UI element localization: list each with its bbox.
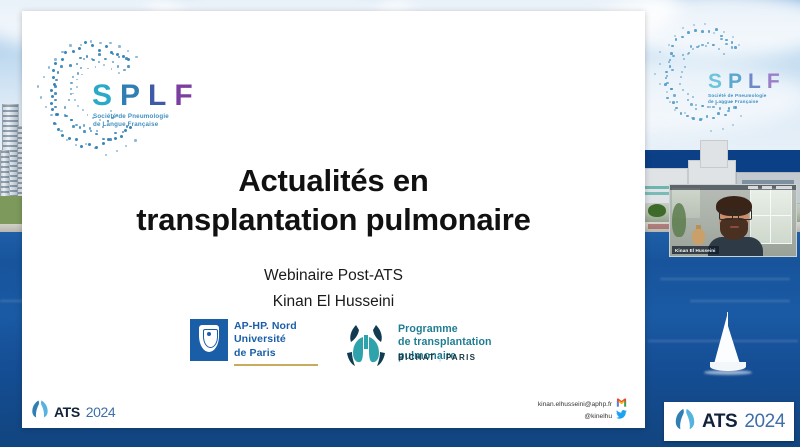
splf-ring-dot: [96, 130, 98, 132]
splf-ring-dot: [87, 68, 89, 70]
programme-logo-location: BICHAT | PARIS: [398, 353, 476, 362]
video-participant-name: Kinan El Husseini: [672, 246, 719, 254]
splf-ring-dot: [708, 30, 711, 33]
slide-title: Actualités en transplantation pulmonaire: [22, 161, 645, 239]
splf-ring-dot: [666, 75, 668, 77]
splf-ring-dot: [684, 112, 686, 114]
splf-ring-dot: [80, 145, 83, 148]
splf-ring-dot: [50, 89, 53, 92]
splf-ring-dot: [125, 57, 128, 60]
splf-ring-dot: [704, 23, 706, 25]
splf-ring-dot: [52, 69, 55, 72]
splf-ring-dot: [687, 31, 690, 34]
waterfront-building: [700, 140, 728, 168]
slide-canvas: SPLF Société de Pneumologie de Langue Fr…: [22, 11, 645, 428]
splf-ring-dot: [666, 91, 668, 93]
partner-logos: AP-HP. Nord Université de Paris: [190, 315, 550, 377]
splf-ring-dot: [680, 76, 682, 78]
participant-beard: [720, 218, 748, 240]
splf-ring-dot: [82, 109, 84, 111]
splf-ring-dot: [659, 83, 661, 85]
ats-logo-badge: ATS 2024: [664, 402, 794, 441]
splf-ring-dot: [70, 82, 72, 84]
splf-ring-dot: [682, 27, 684, 29]
splf-ring-dot: [81, 74, 83, 76]
programme-region: PARIS: [446, 353, 476, 362]
splf-ring-dot: [98, 49, 101, 52]
splf-ring-dot: [105, 154, 107, 156]
splf-ring-dot: [64, 114, 66, 116]
splf-ring-dot: [79, 126, 82, 129]
splf-ring-dot: [694, 29, 697, 32]
splf-ring-dot: [709, 106, 711, 108]
glasses-icon: [719, 209, 750, 218]
splf-ring-dot: [683, 58, 685, 60]
splf-ring-dot: [76, 79, 78, 81]
splf-ring-dot: [105, 58, 107, 60]
splf-ring-dot: [738, 44, 740, 46]
slide-subtitle: Webinaire Post-ATS Kinan El Husseini: [22, 263, 645, 315]
splf-ring-dot: [695, 108, 697, 110]
water-ripple: [690, 300, 790, 302]
splf-ring-dot: [669, 101, 671, 103]
splf-ring-dot: [692, 96, 694, 98]
splf-ring-dot: [80, 44, 82, 46]
splf-ring-dot: [731, 41, 734, 44]
ats-year-badge: 2024: [744, 411, 785, 433]
aphp-line2: Université: [234, 333, 297, 346]
splf-ring-dot: [723, 31, 725, 33]
twitter-bird-icon[interactable]: [616, 410, 627, 424]
video-thumbnail[interactable]: Kinan El Husseini: [669, 184, 797, 257]
splf-ring-dot: [674, 109, 676, 111]
splf-ring-dot: [80, 67, 82, 69]
splf-ring-dot: [705, 45, 707, 47]
splf-ring-dot: [98, 53, 101, 56]
splf-ring-dot: [122, 131, 125, 134]
splf-ring-dot: [680, 112, 683, 115]
splf-ring-dot: [672, 55, 674, 57]
aphp-shield-icon: [190, 319, 228, 361]
splf-ring-dot: [95, 66, 97, 68]
splf-ring-dot: [674, 35, 676, 37]
splf-ring-dot: [85, 143, 87, 145]
splf-ring-dot: [86, 55, 89, 58]
splf-ring-dot: [55, 123, 57, 125]
splf-ring-dot: [723, 53, 725, 55]
splf-ring-dot: [110, 110, 112, 112]
splf-ring-dot: [95, 133, 98, 136]
splf-ring-dot: [681, 36, 684, 39]
splf-ring-dot: [105, 45, 108, 48]
splf-ring-dot: [112, 61, 114, 63]
splf-ring-dot: [57, 71, 60, 74]
splf-ring-dot: [701, 118, 703, 120]
splf-ring-dot: [671, 45, 674, 48]
splf-ring-dot: [722, 102, 724, 104]
splf-ring-dot: [51, 108, 54, 111]
splf-ring-dot: [687, 93, 689, 95]
splf-ring-dot: [72, 93, 74, 95]
splf-ring-dot: [684, 66, 686, 68]
splf-logo-letters: SPLF: [92, 81, 201, 111]
splf-ring-dot: [707, 42, 709, 44]
splf-ring-dot: [75, 144, 77, 146]
contact-block: kinan.elhusseini@aphp.fr @kinelhu: [457, 399, 627, 422]
splf-ring-dot: [66, 139, 68, 141]
splf-ring-dot: [698, 45, 700, 47]
splf-ring-dot: [673, 94, 675, 96]
splf-ring-dot: [68, 99, 70, 101]
splf-ring-dot: [60, 65, 63, 68]
splf-ring-dot: [702, 105, 704, 107]
splf-ring-dot: [112, 53, 115, 56]
splf-ring-dot: [102, 138, 105, 141]
splf-ring-dot: [64, 51, 67, 54]
splf-ring-dot: [72, 76, 74, 78]
splf-ring-dot: [94, 147, 96, 149]
contact-twitter-line: @kinelhu: [457, 411, 627, 423]
splf-ring-dot: [720, 38, 722, 40]
programme-city: BICHAT: [398, 353, 435, 362]
splf-ring-dot: [687, 53, 689, 55]
splf-ring-dot: [731, 46, 733, 48]
splf-ring-dot: [127, 65, 130, 68]
splf-ring-dot: [666, 97, 669, 100]
splf-ring-dot: [668, 61, 670, 63]
aphp-line3: de Paris: [234, 347, 297, 360]
splf-ring-dot: [690, 103, 692, 105]
splf-ring-dot: [701, 44, 703, 46]
splf-ring-dot: [712, 106, 714, 108]
splf-ring-dot: [134, 139, 136, 141]
splf-ring-dot: [725, 39, 728, 42]
splf-ring-dot: [122, 55, 125, 58]
splf-logo: SPLF Société de Pneumologie de Langue Fr…: [32, 29, 222, 159]
splf-ring-dot: [61, 134, 64, 137]
splf-ring-dot: [54, 92, 57, 95]
boat-wake: [704, 370, 752, 375]
splf-logo-sub1: Société de Pneumologie: [93, 113, 169, 121]
splf-ring-dot: [54, 85, 57, 88]
splf-ring-dot: [720, 35, 723, 38]
splf-ring-dot: [72, 50, 75, 53]
splf-ring-dot: [107, 120, 109, 122]
splf-ring-dot: [717, 112, 720, 115]
water-ripple: [0, 300, 24, 302]
splf-ring-dot: [666, 82, 668, 84]
splf-ring-dot: [79, 57, 82, 60]
splf-ring-dot: [135, 56, 137, 58]
background-splf-watermark: SPLF Société de Pneumologie de Langue Fr…: [650, 18, 800, 133]
ats-word-badge: ATS: [702, 411, 737, 433]
video-vase: [692, 229, 705, 245]
splf-ring-dot: [733, 106, 735, 108]
programme-line1: Programme: [398, 323, 552, 336]
splf-ring-dot: [701, 30, 704, 33]
splf-ring-dot: [45, 106, 47, 108]
slide-title-line2: transplantation pulmonaire: [22, 200, 645, 239]
splf-ring-dot: [54, 62, 57, 65]
splf-ring-dot: [114, 132, 117, 135]
splf-ring-dot: [706, 115, 709, 118]
splf-ring-dot: [69, 44, 71, 46]
splf-ring-dot: [54, 99, 57, 102]
splf-ring-dot: [68, 137, 71, 140]
splf-ring-dot: [61, 51, 63, 53]
contact-twitter-handle: @kinelhu: [584, 411, 612, 423]
ats-leaf-icon: [30, 399, 50, 424]
slide-subtitle-event: Webinaire Post-ATS: [22, 263, 645, 289]
splf-ring-dot: [77, 105, 79, 107]
splf-ring-dot: [671, 69, 673, 71]
participant-mouth: [730, 226, 739, 228]
splf-ring-dot: [102, 142, 105, 145]
splf-ring-dot: [718, 48, 720, 50]
splf-ring-dot: [90, 40, 92, 42]
splf-ring-dot: [732, 36, 734, 38]
splf-ring-dot: [114, 137, 117, 140]
splf-ring-dot: [83, 58, 85, 60]
programme-transplantation-logo: Programme de transplantation pulmonaire …: [340, 315, 552, 377]
splf-ring-dot: [724, 114, 727, 117]
splf-ring-dot: [91, 44, 94, 47]
splf-ring-dot: [54, 106, 57, 109]
splf-ring-dot: [730, 101, 732, 103]
splf-ring-dot: [722, 128, 724, 130]
ats-year-slide: 2024: [86, 404, 116, 420]
splf-ring-dot: [109, 42, 111, 44]
splf-ring-dot: [659, 63, 661, 65]
presentation-screenshot: SPLF Société de Pneumologie de Langue Fr…: [0, 0, 800, 447]
splf-ring-dot: [40, 96, 42, 98]
splf-ring-dot: [103, 64, 105, 66]
aphp-logo-text: AP-HP. Nord Université de Paris: [234, 320, 297, 360]
slide-title-line1: Actualités en: [22, 161, 645, 200]
splf-ring-dot: [676, 101, 678, 103]
splf-ring-dot: [75, 138, 78, 141]
splf-ring-dot: [117, 65, 119, 67]
splf-ring-dot: [77, 72, 79, 74]
splf-ring-dot: [54, 58, 56, 60]
splf-ring-dot: [118, 72, 120, 74]
splf-ring-dot: [682, 89, 684, 91]
splf-ring-dot: [76, 86, 78, 88]
tree: [648, 204, 666, 217]
splf-ring-dot: [670, 88, 672, 90]
splf-ring-dot: [725, 43, 727, 45]
splf-ring-dot: [60, 130, 62, 132]
splf-ring-dot: [118, 56, 121, 59]
skyline-tower: [0, 150, 10, 202]
splf-ring-dot: [98, 61, 100, 63]
aphp-logo: AP-HP. Nord Université de Paris: [190, 319, 320, 371]
contact-email-line: kinan.elhusseini@aphp.fr: [457, 399, 627, 411]
video-toolbar: [670, 185, 796, 190]
video-plant: [672, 203, 686, 237]
aphp-gold-rule: [234, 364, 318, 366]
programme-separator: |: [439, 353, 442, 362]
ats-leaf-icon: [673, 407, 697, 436]
splf-ring-dot: [83, 124, 85, 126]
splf-ring-dot: [681, 71, 683, 73]
splf-ring-dot: [75, 124, 77, 126]
splf-ring-dot: [734, 46, 737, 49]
splf-ring-dot: [715, 28, 718, 31]
splf-ring-dot: [55, 79, 58, 82]
splf-ring-dot: [74, 99, 76, 101]
splf-ring-dot: [70, 88, 72, 90]
splf-ring-dot: [665, 71, 668, 74]
splf-ring-dot: [55, 113, 58, 116]
splf-ring-dot: [715, 103, 717, 105]
splf-ring-dot: [88, 143, 91, 146]
splf-ring-dot: [682, 54, 684, 56]
splf-ring-dot: [109, 138, 112, 141]
splf-ring-dot: [654, 73, 656, 75]
splf-ring-dot: [695, 104, 697, 106]
splf-ring-dot: [719, 107, 721, 109]
splf-ring-dot: [732, 124, 734, 126]
splf-ring-dot: [124, 129, 127, 132]
splf-ring-dot: [116, 150, 118, 152]
contact-email: kinan.elhusseini@aphp.fr: [538, 399, 612, 411]
splf-ring-dot: [37, 85, 39, 87]
water-ripple: [660, 278, 790, 280]
splf-ring-dot: [48, 66, 50, 68]
splf-ring-dot: [69, 64, 72, 67]
splf-ring-dot: [679, 83, 681, 85]
splf-ring-dot: [50, 102, 53, 105]
splf-ring-dot: [84, 41, 87, 44]
ats-logo-slide: ATS 2024: [30, 399, 115, 424]
splf-ring-dot: [659, 51, 661, 53]
splf-ring-dot: [70, 119, 72, 121]
splf-ring-dot: [64, 106, 66, 108]
splf-ring-dot: [127, 50, 129, 52]
splf-ring-dot: [76, 63, 79, 66]
splf-ring-dot: [111, 68, 113, 70]
splf-ring-dot: [740, 115, 742, 117]
splf-ring-dot: [87, 114, 89, 116]
splf-ring-dot: [61, 58, 64, 61]
splf-ring-dot: [83, 130, 86, 133]
lungs-icon: [340, 321, 392, 369]
splf-ring-dot: [43, 76, 45, 78]
splf-ring-dot: [713, 32, 715, 34]
aphp-line1: AP-HP. Nord: [234, 320, 297, 333]
splf-ring-dot: [123, 69, 125, 71]
splf-ring-dot: [118, 45, 120, 47]
splf-ring-dot: [692, 48, 694, 50]
splf-ring-dot: [78, 47, 81, 50]
splf-ring-dot: [727, 110, 729, 112]
splf-watermark-letters: SPLF: [708, 70, 786, 94]
splf-ring-dot: [99, 42, 101, 44]
video-window: [750, 188, 792, 244]
splf-ring-dot: [693, 24, 695, 26]
splf-ring-dot: [665, 77, 668, 80]
splf-ring-dot: [687, 99, 689, 101]
splf-ring-dot: [675, 38, 678, 41]
splf-ring-dot: [672, 101, 675, 104]
foliage: [0, 196, 22, 224]
splf-ring-dot: [125, 145, 127, 147]
ats-word-slide: ATS: [54, 404, 80, 420]
splf-ring-dot: [120, 135, 123, 138]
splf-ring-dot: [686, 115, 689, 118]
splf-ring-dot: [712, 117, 715, 120]
splf-ring-dot: [50, 114, 52, 116]
splf-ring-dot: [90, 130, 93, 133]
splf-ring-dot: [710, 130, 712, 132]
slide-subtitle-speaker: Kinan El Husseini: [22, 289, 645, 315]
splf-ring-dot: [669, 65, 672, 68]
splf-ring-dot: [51, 95, 54, 98]
